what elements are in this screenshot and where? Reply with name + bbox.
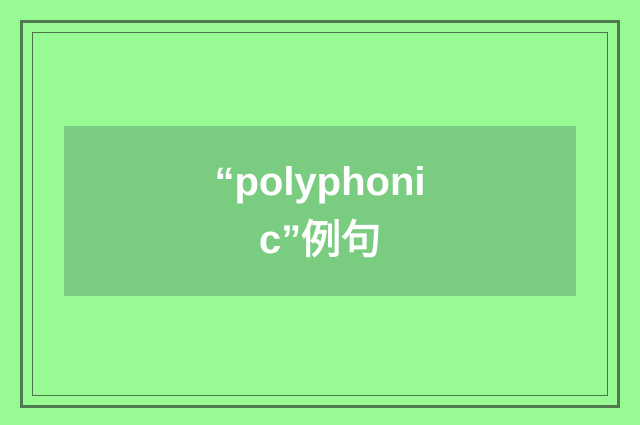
card-title-text: “polyphonic”例句	[213, 153, 428, 270]
title-card: “polyphonic”例句	[64, 126, 576, 296]
page-canvas: “polyphonic”例句	[0, 0, 640, 425]
